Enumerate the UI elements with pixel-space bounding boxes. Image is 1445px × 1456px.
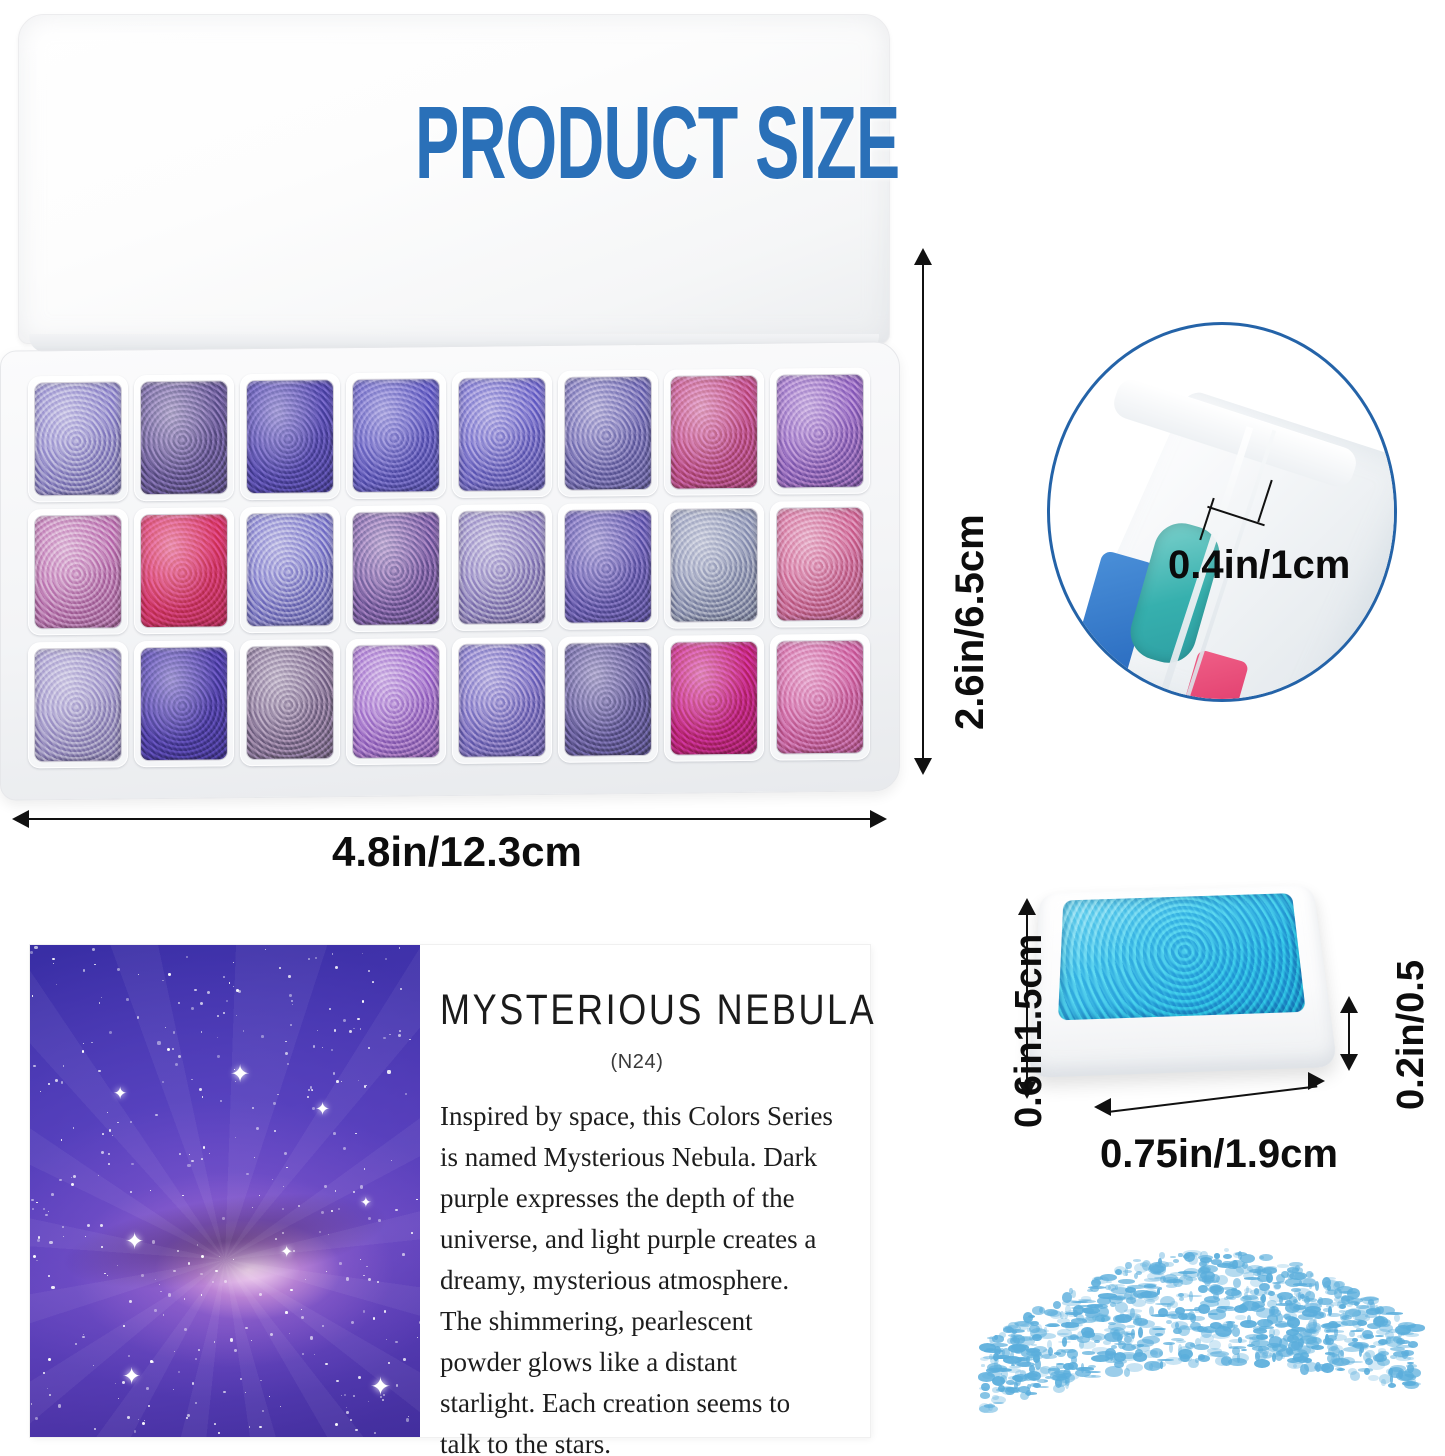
brush-speckle xyxy=(1087,1289,1093,1292)
star-dot xyxy=(178,1002,181,1005)
paint-pan xyxy=(565,643,651,756)
star-dot xyxy=(43,1208,45,1210)
star-dot xyxy=(310,1336,313,1339)
brush-speckle xyxy=(1267,1300,1277,1309)
paint-pan xyxy=(247,646,333,759)
star-dot xyxy=(289,994,292,997)
paint-pan-cell xyxy=(452,637,552,764)
star-dot xyxy=(373,1317,375,1319)
brush-speckle xyxy=(1241,1296,1259,1302)
star-dot xyxy=(416,1199,417,1200)
star-dot xyxy=(282,1208,284,1210)
star-dot xyxy=(285,1311,288,1314)
star-dot xyxy=(123,1325,125,1327)
brush-speckle xyxy=(1149,1262,1166,1272)
paint-pan-cell xyxy=(28,508,128,635)
star-dot xyxy=(203,1146,206,1149)
star-dot xyxy=(191,1160,194,1163)
paint-brush-swatch xyxy=(960,1255,1430,1435)
brush-speckle xyxy=(1211,1259,1222,1264)
star-dot xyxy=(279,967,281,969)
brush-speckle xyxy=(1257,1275,1269,1282)
star-dot xyxy=(261,1035,264,1038)
star-dot xyxy=(202,1096,204,1098)
brush-speckle xyxy=(1241,1349,1247,1351)
star-dot xyxy=(396,1384,399,1387)
brush-speckle xyxy=(1378,1343,1385,1346)
brush-speckle xyxy=(1115,1285,1118,1290)
star-dot xyxy=(189,1154,190,1155)
brush-speckle xyxy=(1357,1335,1363,1338)
star-dot xyxy=(364,1168,365,1169)
star-dot xyxy=(301,1309,302,1310)
galaxy-starfield: ✦✦✦✦✦✦✦✦ xyxy=(30,945,420,1437)
brush-speckle xyxy=(1200,1271,1215,1280)
brush-speckle xyxy=(1386,1312,1403,1315)
star-dot xyxy=(353,1191,356,1194)
star-dot xyxy=(360,1185,363,1188)
star-dot xyxy=(339,1262,342,1265)
star-dot xyxy=(32,995,34,997)
paint-pan xyxy=(777,641,863,754)
paint-pan-cell xyxy=(452,504,552,631)
brush-speckle xyxy=(1015,1388,1019,1393)
brush-speckle xyxy=(1137,1293,1144,1298)
brush-speckle xyxy=(1388,1383,1396,1388)
brush-speckle xyxy=(1249,1337,1261,1348)
star-dot xyxy=(217,1015,219,1017)
star-dot xyxy=(322,1047,324,1049)
brush-speckle xyxy=(1320,1312,1326,1318)
star-dot xyxy=(32,1208,34,1210)
brush-speckle xyxy=(1368,1375,1379,1382)
star-dot xyxy=(325,1363,328,1366)
brush-speckle xyxy=(1138,1327,1143,1338)
brush-speckle xyxy=(1346,1302,1352,1307)
star-dot xyxy=(71,1183,74,1186)
star-dot xyxy=(305,1279,306,1280)
paint-pan xyxy=(35,382,121,495)
star-dot xyxy=(117,1265,118,1266)
star-dot xyxy=(201,1294,203,1296)
star-dot xyxy=(117,968,120,971)
star-dot xyxy=(201,1031,203,1033)
star-dot xyxy=(408,1416,409,1417)
brush-speckle xyxy=(1238,1337,1243,1342)
star-dot xyxy=(172,1048,174,1050)
star-dot xyxy=(177,1250,179,1252)
star-dot xyxy=(322,1325,324,1327)
galaxy-artwork: ✦✦✦✦✦✦✦✦ xyxy=(30,945,420,1437)
star-dot xyxy=(409,1039,410,1040)
series-name: MYSTERIOUS NEBULA xyxy=(440,985,834,1035)
paint-pan xyxy=(565,510,651,623)
brush-speckle xyxy=(1337,1286,1353,1293)
star-dot xyxy=(174,1351,175,1352)
brush-speckle xyxy=(1015,1346,1026,1348)
brush-speckle xyxy=(1328,1306,1332,1315)
brush-speckle xyxy=(1328,1321,1337,1328)
star-dot xyxy=(157,1041,160,1044)
star-dot xyxy=(335,1423,338,1426)
star-dot xyxy=(197,1244,198,1245)
star-dot xyxy=(220,1100,222,1102)
arrow-left-icon xyxy=(12,810,29,828)
star-dot xyxy=(223,976,225,978)
star-dot xyxy=(61,1139,62,1140)
star-dot xyxy=(229,982,231,984)
brush-speckle xyxy=(1342,1316,1349,1320)
star-dot xyxy=(49,1394,51,1396)
star-dot xyxy=(335,1190,336,1191)
brush-speckle xyxy=(1364,1368,1370,1375)
paint-pan xyxy=(459,511,545,624)
star-dot xyxy=(83,1043,84,1044)
brush-speckle xyxy=(1070,1313,1077,1316)
arrow-down-icon xyxy=(914,758,932,775)
brush-speckle xyxy=(1169,1343,1173,1353)
star-dot xyxy=(259,1426,262,1429)
arrow-down-icon xyxy=(1340,1054,1358,1071)
paint-pan-cell xyxy=(240,373,340,500)
star-dot xyxy=(391,1160,392,1161)
pan-height-label: 0.6in1.5cm xyxy=(1008,934,1051,1128)
star-dot xyxy=(332,953,333,954)
star-dot xyxy=(215,1270,217,1272)
star-dot xyxy=(131,1163,133,1165)
star-dot xyxy=(51,1286,54,1289)
lid-thickness-label: 0.4in/1cm xyxy=(1168,543,1350,588)
star-dot xyxy=(349,1030,352,1033)
star-dot xyxy=(223,1012,225,1014)
paint-pan-cell xyxy=(346,505,446,632)
star-dot xyxy=(383,1037,385,1039)
brush-speckle xyxy=(1000,1375,1007,1383)
star-dot xyxy=(313,1045,316,1048)
star-dot xyxy=(101,1151,104,1154)
paint-pan-cell xyxy=(770,368,870,495)
brush-speckle xyxy=(1360,1297,1379,1301)
brush-speckle xyxy=(1257,1319,1272,1327)
star-dot xyxy=(83,969,86,972)
star-dot xyxy=(188,1262,190,1264)
series-text-block: MYSTERIOUS NEBULA (N24) Inspired by spac… xyxy=(422,945,870,1437)
arrow-right-icon xyxy=(870,810,887,828)
star-dot xyxy=(358,1080,359,1081)
star-sparkle-icon: ✦ xyxy=(280,1245,293,1261)
star-dot xyxy=(91,1042,92,1043)
star-dot xyxy=(53,963,54,964)
brush-speckle xyxy=(1078,1300,1096,1303)
star-dot xyxy=(34,946,37,949)
paint-pan xyxy=(777,375,863,488)
star-dot xyxy=(282,1232,284,1234)
paint-pan-cell xyxy=(770,634,870,761)
star-dot xyxy=(302,1353,304,1355)
star-dot xyxy=(287,1063,289,1065)
star-sparkle-icon: ✦ xyxy=(315,1100,330,1118)
star-dot xyxy=(127,1416,130,1419)
star-dot xyxy=(142,1422,145,1425)
star-dot xyxy=(334,1029,336,1031)
paint-pan-cell xyxy=(240,639,340,766)
star-dot xyxy=(269,1396,270,1397)
brush-speckle xyxy=(1105,1358,1116,1363)
star-dot xyxy=(217,1037,218,1038)
star-dot xyxy=(292,1004,293,1005)
star-dot xyxy=(256,1127,259,1130)
brush-speckle xyxy=(1108,1322,1116,1325)
arrow-up-icon xyxy=(914,248,932,265)
star-dot xyxy=(82,1050,84,1052)
star-dot xyxy=(226,1000,228,1002)
paint-pan-cell xyxy=(664,502,764,629)
star-dot xyxy=(272,1179,273,1180)
star-dot xyxy=(355,1133,356,1134)
star-dot xyxy=(199,1088,202,1091)
paint-pan-cell xyxy=(452,371,552,498)
star-dot xyxy=(100,1224,103,1227)
star-dot xyxy=(389,1034,391,1036)
star-dot xyxy=(254,1157,255,1158)
paint-pan xyxy=(671,642,757,755)
series-description: Inspired by space, this Colors Series is… xyxy=(440,1096,834,1456)
star-dot xyxy=(363,1275,365,1277)
paint-pan-cell xyxy=(664,369,764,496)
paint-pan-cell xyxy=(134,374,234,501)
paint-pan-cell xyxy=(664,635,764,762)
star-dot xyxy=(219,1256,220,1257)
star-dot xyxy=(290,1024,292,1026)
height-dimension-label: 2.6in/6.5cm xyxy=(948,514,993,730)
star-dot xyxy=(405,1093,407,1095)
star-dot xyxy=(398,1034,401,1037)
brush-speckle xyxy=(1394,1314,1401,1322)
brush-speckle xyxy=(990,1337,995,1345)
star-dot xyxy=(218,1432,220,1434)
pan-depth-label: 0.2in/0.5 xyxy=(1390,960,1433,1110)
star-dot xyxy=(329,1008,331,1010)
star-dot xyxy=(353,1028,354,1029)
brush-speckle xyxy=(1136,1271,1142,1275)
star-dot xyxy=(417,1337,418,1338)
star-dot xyxy=(224,1280,227,1283)
star-dot xyxy=(402,1253,405,1256)
star-dot xyxy=(94,964,96,966)
paint-pan-cell xyxy=(134,640,234,767)
brush-speckle xyxy=(1329,1302,1348,1307)
brush-speckle xyxy=(1125,1267,1129,1276)
star-dot xyxy=(366,1266,368,1268)
star-dot xyxy=(109,1031,112,1034)
brush-speckle xyxy=(1137,1339,1154,1346)
star-dot xyxy=(360,1259,361,1260)
star-dot xyxy=(195,1402,197,1404)
star-dot xyxy=(343,1147,346,1150)
arrow-up-icon xyxy=(1340,996,1358,1013)
star-dot xyxy=(186,956,188,958)
star-dot xyxy=(146,1387,149,1390)
paint-pan-cell xyxy=(134,507,234,634)
brush-speckle xyxy=(1166,1320,1172,1324)
brush-speckle xyxy=(1235,1315,1245,1319)
brush-speckle xyxy=(1363,1334,1374,1339)
star-dot xyxy=(336,1380,339,1383)
star-dot xyxy=(301,1316,304,1319)
brush-speckle xyxy=(1026,1390,1031,1396)
star-dot xyxy=(162,1081,164,1083)
brush-speckle xyxy=(1261,1294,1266,1303)
star-dot xyxy=(93,1365,94,1366)
star-dot xyxy=(160,1291,161,1292)
star-dot xyxy=(364,1085,366,1087)
brush-speckle xyxy=(1218,1325,1225,1329)
paint-pan xyxy=(777,508,863,621)
star-dot xyxy=(30,951,33,954)
star-dot xyxy=(59,1179,62,1182)
star-dot xyxy=(315,957,317,959)
star-dot xyxy=(107,1275,108,1276)
brush-speckle xyxy=(1221,1356,1232,1366)
star-dot xyxy=(36,1202,38,1204)
brush-speckle xyxy=(1111,1345,1117,1349)
paint-pan xyxy=(565,377,651,490)
brush-speckle xyxy=(1124,1333,1134,1344)
star-dot xyxy=(363,1310,366,1313)
star-dot xyxy=(184,1328,187,1331)
star-dot xyxy=(191,1007,194,1010)
brush-speckle xyxy=(1223,1254,1232,1259)
brush-speckle xyxy=(1012,1330,1017,1334)
star-dot xyxy=(85,1236,86,1237)
star-dot xyxy=(92,948,95,951)
brush-speckle xyxy=(1368,1360,1385,1370)
brush-speckle xyxy=(1166,1284,1178,1288)
palette-tray-inner xyxy=(18,357,880,778)
star-dot xyxy=(289,1333,290,1334)
brush-speckle xyxy=(1033,1383,1040,1388)
star-dot xyxy=(138,974,139,975)
star-dot xyxy=(368,1217,371,1220)
star-dot xyxy=(162,980,164,982)
brush-speckle xyxy=(1406,1325,1415,1328)
star-dot xyxy=(314,1354,315,1355)
star-dot xyxy=(343,1019,346,1022)
height-dimension-line xyxy=(922,262,924,762)
brush-speckle xyxy=(980,1392,991,1398)
brush-speckle xyxy=(1190,1322,1201,1330)
brush-speckle xyxy=(1159,1351,1164,1356)
star-dot xyxy=(222,1217,224,1219)
star-dot xyxy=(368,1047,371,1050)
star-dot xyxy=(31,1403,32,1404)
brush-speckle xyxy=(1306,1271,1313,1277)
paint-pan xyxy=(671,509,757,622)
star-dot xyxy=(167,1048,170,1051)
star-dot xyxy=(112,1135,113,1136)
brush-speckle xyxy=(1233,1278,1241,1288)
star-sparkle-icon: ✦ xyxy=(360,1195,372,1209)
pan-depth-line xyxy=(1348,1010,1350,1058)
star-dot xyxy=(346,1277,349,1280)
star-dot xyxy=(47,1388,48,1389)
brush-speckle xyxy=(1100,1274,1117,1281)
brush-speckle xyxy=(1369,1345,1376,1348)
star-dot xyxy=(94,1428,96,1430)
star-dot xyxy=(252,1207,253,1208)
star-dot xyxy=(56,984,57,985)
star-dot xyxy=(259,1293,262,1296)
paint-pan-cell xyxy=(346,372,446,499)
star-dot xyxy=(48,1358,51,1361)
brush-speckle xyxy=(1341,1357,1355,1365)
star-dot xyxy=(51,1193,54,1196)
star-dot xyxy=(179,1153,181,1155)
star-dot xyxy=(307,1096,309,1098)
star-dot xyxy=(285,1052,288,1055)
paint-pan xyxy=(141,381,227,494)
star-dot xyxy=(107,1112,108,1113)
brush-speckle xyxy=(1167,1303,1171,1310)
star-dot xyxy=(198,1349,200,1351)
brush-speckle xyxy=(1247,1315,1251,1323)
star-dot xyxy=(36,1260,37,1261)
pan-width-line xyxy=(1111,1085,1318,1112)
paint-pan-cell xyxy=(240,506,340,633)
paint-pan-grid xyxy=(28,368,870,769)
star-dot xyxy=(400,988,402,990)
star-dot xyxy=(274,1130,276,1132)
star-dot xyxy=(178,1371,180,1373)
star-dot xyxy=(341,1395,342,1396)
paint-pan xyxy=(459,378,545,491)
star-dot xyxy=(186,1417,188,1419)
brush-speckle xyxy=(1208,1309,1226,1319)
star-dot xyxy=(48,1083,50,1085)
brush-speckle xyxy=(1310,1301,1318,1310)
pan-paint-surface xyxy=(1058,893,1306,1020)
star-dot xyxy=(344,1394,346,1396)
brush-speckle xyxy=(1256,1308,1274,1317)
brush-speckle xyxy=(1109,1296,1124,1304)
paint-pan-cell xyxy=(558,370,658,497)
star-dot xyxy=(214,1341,216,1343)
star-dot xyxy=(37,1239,40,1242)
star-dot xyxy=(245,1392,246,1393)
star-dot xyxy=(311,1089,313,1091)
star-dot xyxy=(63,1236,64,1237)
star-dot xyxy=(385,958,387,960)
brush-speckle xyxy=(1306,1322,1321,1331)
brush-speckle xyxy=(1132,1299,1146,1307)
star-dot xyxy=(234,1349,237,1352)
star-dot xyxy=(209,1153,210,1154)
star-dot xyxy=(173,1031,176,1034)
star-dot xyxy=(109,1129,111,1131)
star-dot xyxy=(326,1271,327,1272)
paint-pan xyxy=(141,514,227,627)
brush-speckle xyxy=(1302,1298,1318,1302)
star-dot xyxy=(377,1281,379,1283)
paint-pan xyxy=(247,513,333,626)
star-dot xyxy=(291,1000,293,1002)
star-dot xyxy=(154,1309,157,1312)
star-dot xyxy=(358,1376,361,1379)
star-dot xyxy=(52,958,55,961)
star-dot xyxy=(73,1127,75,1129)
star-dot xyxy=(212,1281,214,1283)
brush-speckle xyxy=(1301,1335,1317,1341)
